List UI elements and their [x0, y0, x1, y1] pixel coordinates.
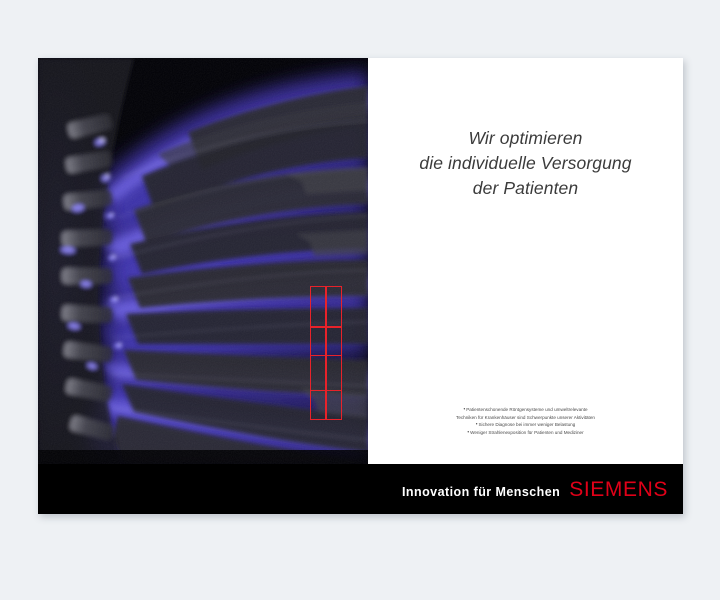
headline-line-1: Wir optimieren [368, 126, 683, 151]
measure-box-middle-wide[interactable] [310, 326, 342, 356]
list-item-label: Sichere Diagnose bei immer weniger Belas… [478, 422, 575, 427]
list-item: •Sichere Diagnose bei immer weniger Bela… [376, 421, 675, 429]
list-item: •Weniger Strahlenexposition für Patiente… [376, 429, 675, 437]
footer-content: Innovation für Menschen SIEMENS [402, 478, 668, 502]
footer-bar: Innovation für Menschen SIEMENS [38, 464, 683, 514]
measure-box-top-wide[interactable] [310, 286, 342, 328]
text-panel: Wir optimieren die individuelle Versorgu… [368, 58, 683, 464]
headline-line-2: die individuelle Versorgung [368, 151, 683, 176]
brand-claim: Innovation für Menschen [402, 485, 560, 499]
siemens-logo: SIEMENS [569, 478, 668, 502]
headline-line-3: der Patienten [368, 176, 683, 201]
bullet-list: •Patientenschonende Röntgensysteme und u… [376, 406, 675, 437]
list-item-label: Patientenschonende Röntgensysteme und um… [466, 407, 587, 412]
measure-box-bottom-wide[interactable] [310, 390, 342, 420]
list-item: •Patientenschonende Röntgensysteme und u… [376, 406, 675, 414]
radiograph-image [38, 58, 368, 464]
list-item: Techniken für Krankenhäuser sind Schwerp… [376, 414, 675, 421]
brochure-sheet: Wir optimieren die individuelle Versorgu… [38, 58, 683, 514]
list-item-label: Weniger Strahlenexposition für Patienten… [470, 430, 584, 435]
headline: Wir optimieren die individuelle Versorgu… [368, 126, 683, 201]
list-item-label: Techniken für Krankenhäuser sind Schwerp… [456, 415, 595, 420]
